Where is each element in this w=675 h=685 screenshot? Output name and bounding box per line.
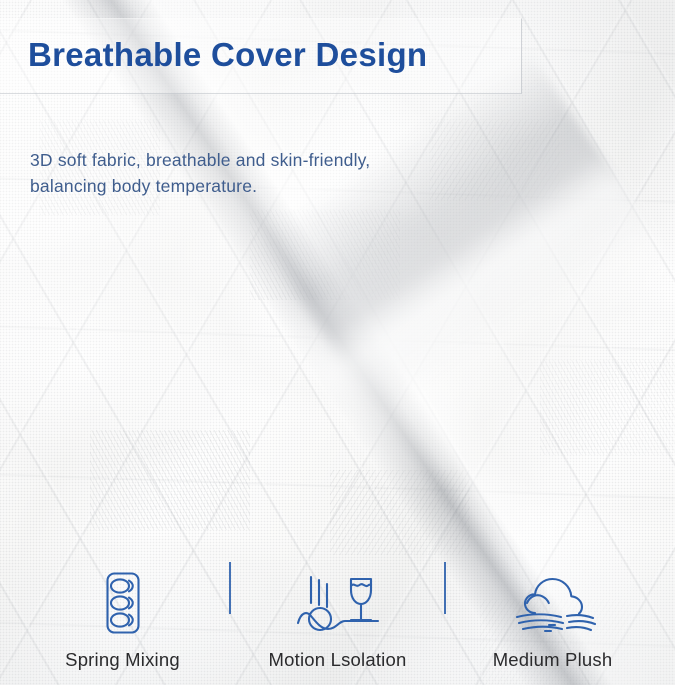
product-feature-banner: Breathable Cover Design 3D soft fabric, … xyxy=(0,0,675,685)
feature-divider-2 xyxy=(444,562,446,614)
feature-label-motion-isolation: Motion Lsolation xyxy=(269,649,407,671)
cloud-plush-icon xyxy=(505,569,601,635)
feature-item-medium-plush: Medium Plush xyxy=(450,569,655,671)
feature-label-medium-plush: Medium Plush xyxy=(493,649,613,671)
feature-strip: Spring Mixing xyxy=(0,551,675,671)
subtitle: 3D soft fabric, breathable and skin-frie… xyxy=(30,147,500,199)
subtitle-line-2: balancing body temperature. xyxy=(30,176,257,196)
feature-label-spring-mixing: Spring Mixing xyxy=(65,649,180,671)
feature-item-motion-isolation: Motion Lsolation xyxy=(235,569,440,671)
spring-coil-icon xyxy=(103,569,143,635)
motion-isolation-icon xyxy=(295,569,381,635)
subtitle-line-1: 3D soft fabric, breathable and skin-frie… xyxy=(30,150,370,170)
page-title: Breathable Cover Design xyxy=(28,36,427,74)
feature-divider-1 xyxy=(229,562,231,614)
feature-item-spring-mixing: Spring Mixing xyxy=(20,569,225,671)
